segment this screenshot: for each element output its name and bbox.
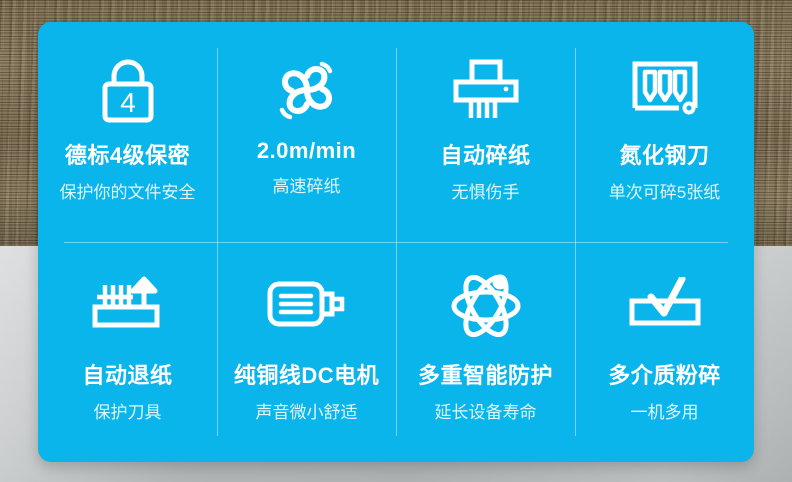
feature-subtitle: 无惧伤手 (452, 178, 520, 203)
feature-title: 氮化钢刀 (619, 138, 709, 170)
checkmark-slot-icon (624, 266, 706, 342)
feature-card-auto-shred[interactable]: 自动碎纸 无惧伤手 (396, 22, 575, 242)
padlock-4-icon: 4 (92, 52, 164, 128)
paper-reverse-arrow-icon (87, 266, 169, 342)
feature-subtitle: 一机多用 (631, 398, 699, 423)
feature-card-motor[interactable]: 纯铜线DC电机 声音微小舒适 (217, 242, 396, 462)
paper-shredder-icon (446, 52, 526, 128)
feature-subtitle: 声音微小舒适 (256, 398, 358, 423)
feature-title: 德标4级保密 (65, 138, 190, 170)
feature-card-protection[interactable]: 多重智能防护 延长设备寿命 (396, 242, 575, 462)
grid-divider-horizontal (64, 242, 728, 243)
feature-card-multimedia[interactable]: 多介质粉碎 一机多用 (575, 242, 754, 462)
feature-subtitle: 单次可碎5张纸 (609, 178, 720, 203)
feature-subtitle: 高速碎纸 (273, 172, 341, 197)
dc-motor-icon (264, 266, 350, 342)
feature-card-auto-reverse[interactable]: 自动退纸 保护刀具 (38, 242, 217, 462)
feature-title: 多介质粉碎 (608, 358, 721, 390)
feature-title: 多重智能防护 (418, 358, 553, 390)
feature-title: 纯铜线DC电机 (234, 358, 379, 390)
atom-protection-icon (448, 266, 524, 342)
feature-title: 2.0m/min (257, 138, 356, 164)
feature-subtitle: 延长设备寿命 (435, 398, 537, 423)
feature-title: 自动退纸 (82, 358, 172, 390)
steel-blades-icon (627, 52, 703, 128)
feature-card-security[interactable]: 4 德标4级保密 保护你的文件安全 (38, 22, 217, 242)
feature-card-blades[interactable]: 氮化钢刀 单次可碎5张纸 (575, 22, 754, 242)
feature-card-speed[interactable]: 2.0m/min 高速碎纸 (217, 22, 396, 242)
feature-subtitle: 保护刀具 (94, 398, 162, 423)
feature-subtitle: 保护你的文件安全 (60, 178, 196, 203)
feature-panel: 4 德标4级保密 保护你的文件安全 (38, 22, 754, 462)
fan-speed-icon (270, 52, 344, 128)
svg-text:4: 4 (120, 87, 136, 118)
feature-title: 自动碎纸 (440, 138, 530, 170)
